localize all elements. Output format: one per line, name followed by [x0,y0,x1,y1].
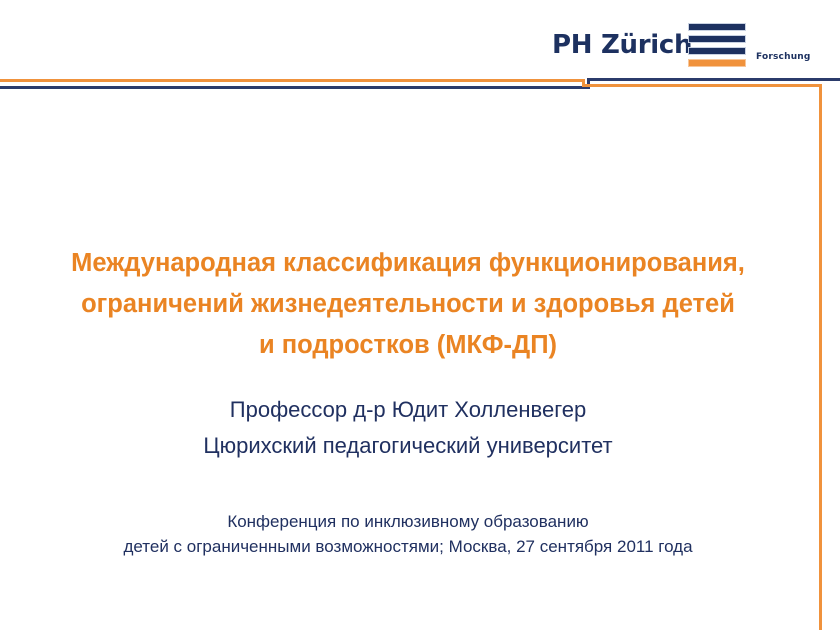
slide-title: Международная классификация функциониров… [28,243,788,366]
presenter-block: Профессор д-р Юдит Холленвегер Цюрихский… [28,392,788,464]
presenter-affiliation: Цюрихский педагогический университет [28,428,788,464]
slide-title-line-2: ограничений жизнедеятельности и здоровья… [28,284,788,325]
slide-content: Международная классификация функциониров… [0,0,816,630]
presenter-name: Профессор д-р Юдит Холленвегер [28,392,788,428]
event-name: Конференция по инклюзивному образованию [28,509,788,534]
presentation-title-slide: PH Zürich Forschung Международная класси… [0,0,840,630]
event-location-date: детей с ограниченными возможностями; Мос… [28,534,788,559]
slide-title-line-3: и подростков (МКФ-ДП) [28,325,788,366]
event-block: Конференция по инклюзивному образованию … [28,509,788,559]
orange-rule-vertical-right [819,84,822,630]
slide-title-line-1: Международная классификация функциониров… [28,243,788,284]
